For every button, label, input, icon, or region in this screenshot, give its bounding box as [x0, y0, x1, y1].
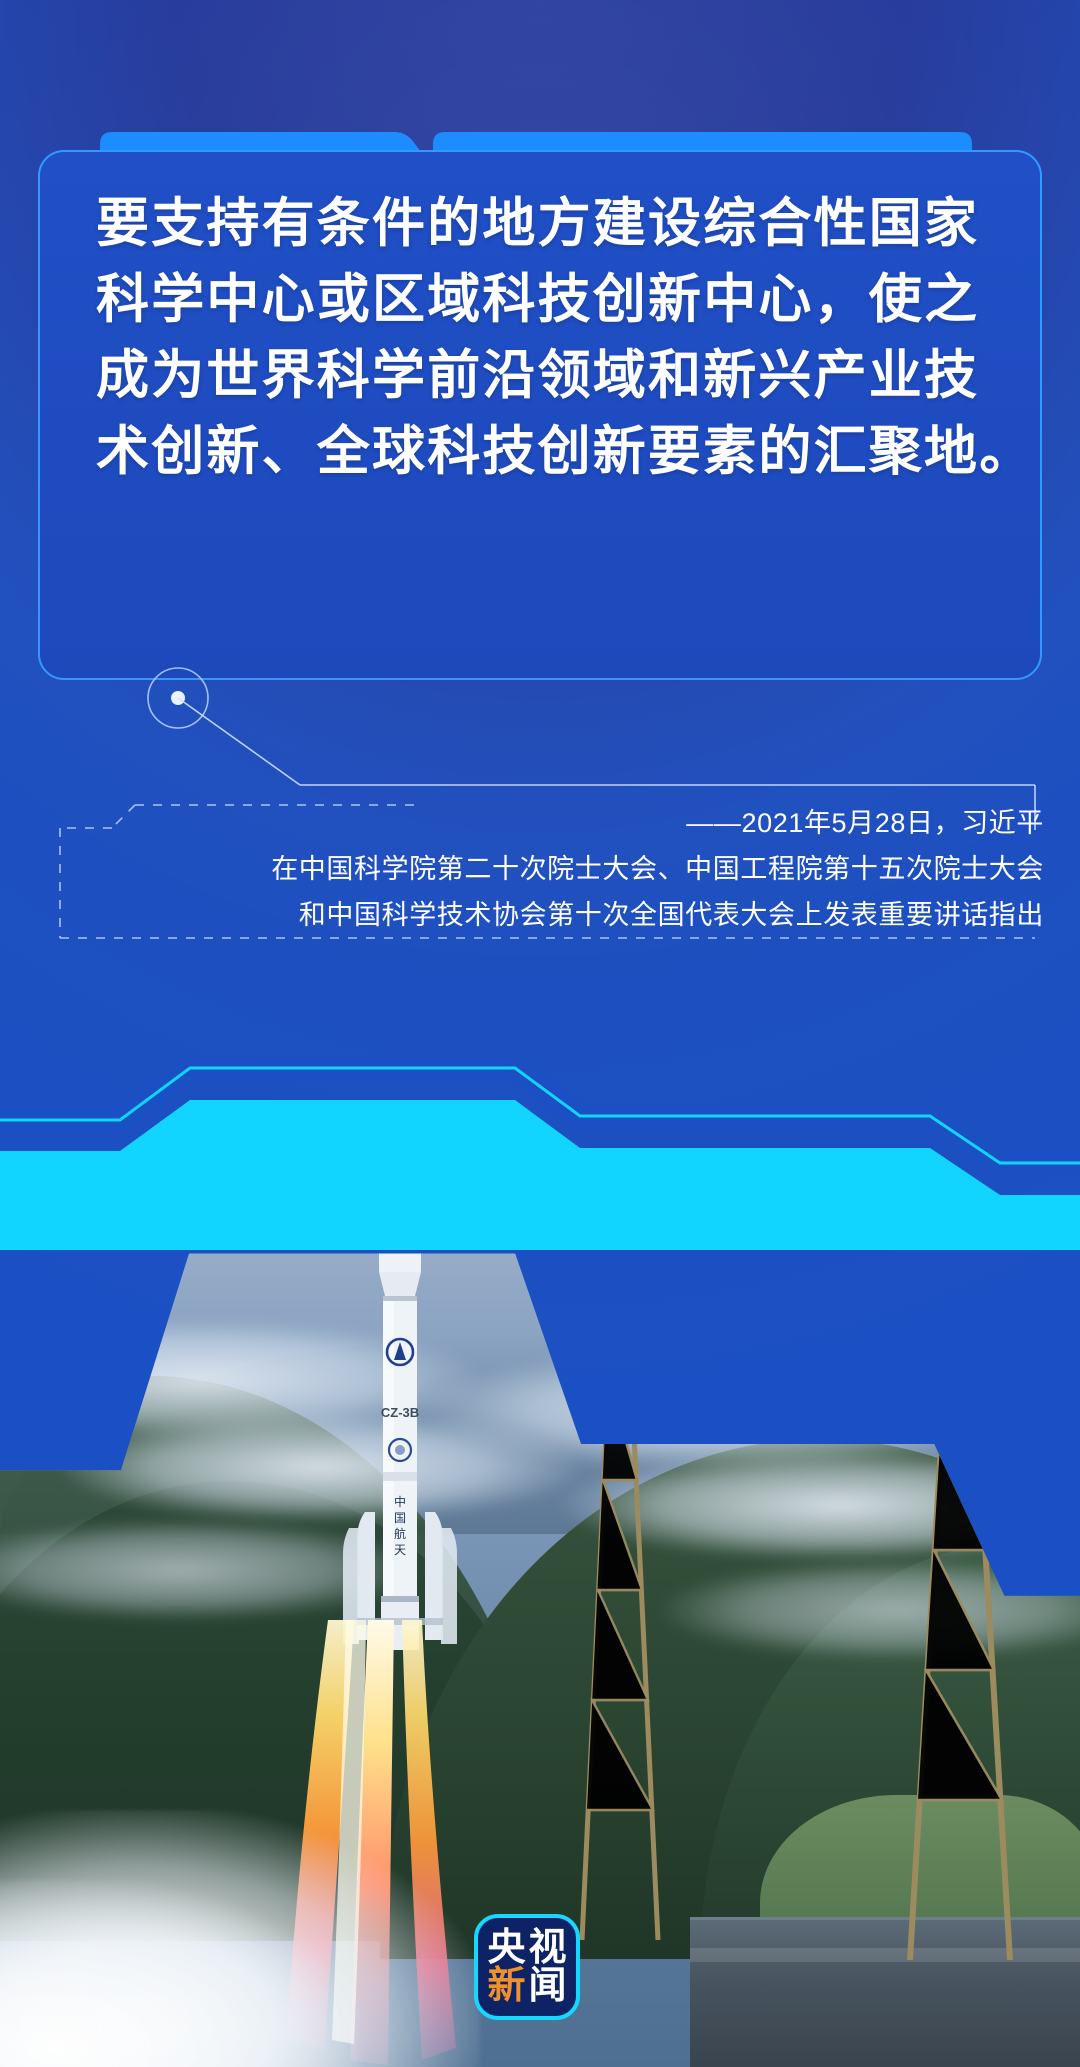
attribution-block: ——2021年5月28日，习近平 在中国科学院第二十次院士大会、中国工程院第十五…: [0, 800, 1080, 938]
logo-char-shi: 视: [529, 1929, 567, 1967]
quote-line-1: 要支持有条件的地方建设综合性国家: [96, 186, 1000, 262]
attribution-line-3: 和中国科学技术协会第十次全国代表大会上发表重要讲话指出: [0, 892, 1044, 938]
logo-char-yang: 央: [487, 1929, 525, 1967]
attribution-line-2: 在中国科学院第二十次院士大会、中国工程院第十五次院士大会: [0, 846, 1044, 892]
logo-line-2: 新 闻: [487, 1967, 566, 2005]
svg-text:天: 天: [394, 1543, 406, 1557]
svg-text:航: 航: [394, 1526, 406, 1541]
launch-smoke-2: [0, 1880, 360, 2067]
logo-char-xin: 新: [487, 1967, 525, 2005]
quote-line-2: 科学中心或区域科技创新中心，使之: [96, 262, 1000, 338]
quote-card: 要支持有条件的地方建设综合性国家 科学中心或区域科技创新中心，使之 成为世界科学…: [38, 150, 1042, 680]
logo-line-1: 央 视: [487, 1929, 566, 1967]
quote-zone: 要支持有条件的地方建设综合性国家 科学中心或区域科技创新中心，使之 成为世界科学…: [0, 0, 1080, 1000]
logo-char-wen: 闻: [529, 1967, 567, 2005]
cctv-news-logo[interactable]: 央 视 新 闻: [474, 1914, 580, 2020]
attribution-line-1: ——2021年5月28日，习近平: [0, 800, 1044, 846]
rocket-label: CZ-3B: [381, 1405, 419, 1420]
svg-text:国: 国: [394, 1511, 406, 1525]
svg-text:中: 中: [394, 1494, 406, 1509]
cyan-chevron-divider: [0, 1020, 1080, 1250]
fog-band-3: [420, 1350, 1040, 1470]
quote-line-3: 成为世界科学前沿领域和新兴产业技: [96, 338, 1000, 414]
poster-root: 要支持有条件的地方建设综合性国家 科学中心或区域科技创新中心，使之 成为世界科学…: [0, 0, 1080, 2067]
quote-line-4: 术创新、全球科技创新要素的汇聚地。: [96, 414, 1000, 490]
